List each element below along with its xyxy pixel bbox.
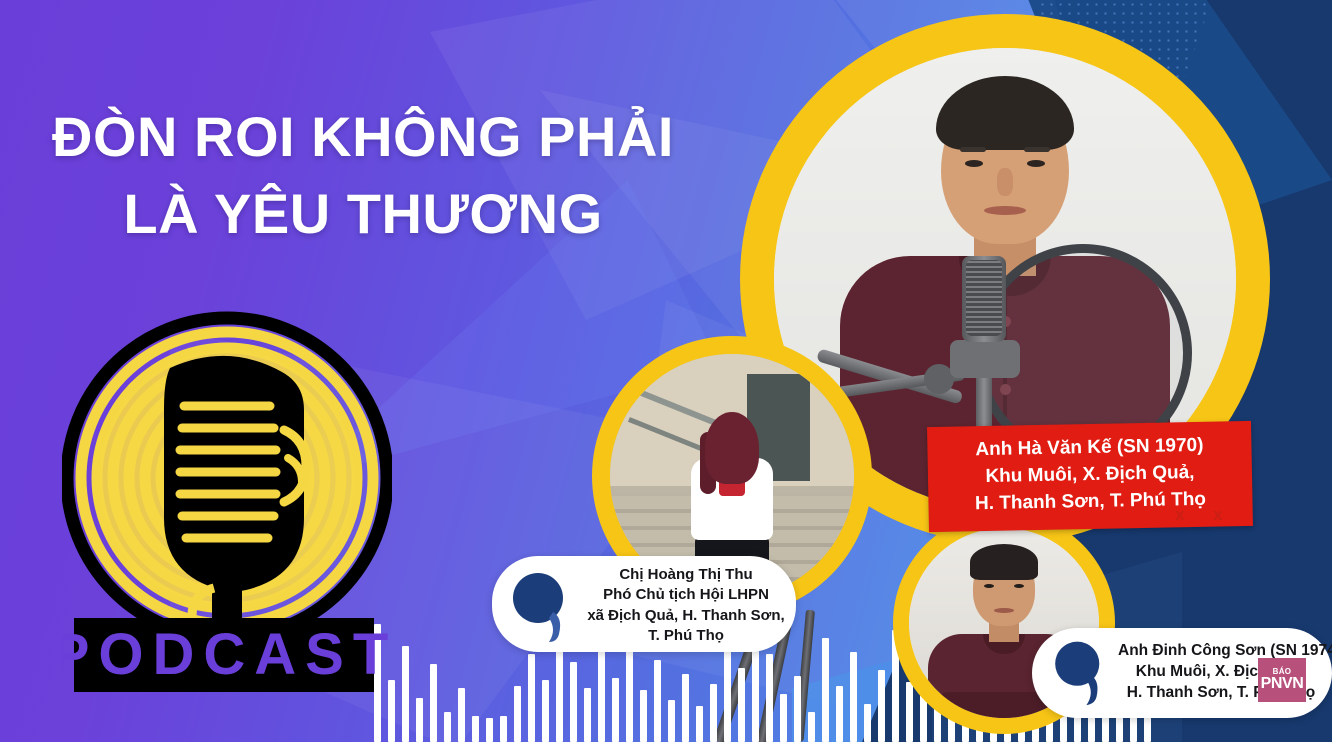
studio-microphone-icon — [966, 260, 1002, 336]
caption-line-1: Chị Hoàng Thị Thu — [584, 565, 788, 585]
caption-line-3: xã Địch Quả, H. Thanh Sơn, — [584, 606, 788, 626]
caption-text-hoang-thi-thu: Chị Hoàng Thị Thu Phó Chủ tịch Hội LHPN … — [584, 565, 788, 647]
watermark-bottom-text: PNVN — [1261, 676, 1304, 692]
podcast-logo: PODCAST — [62, 300, 392, 700]
microphone-icon: PODCAST — [62, 300, 392, 700]
x-marks: x x — [1175, 505, 1235, 525]
podcast-wordmark: PODCAST — [62, 622, 392, 687]
quote-mark-icon — [506, 568, 580, 642]
caption-hoang-thi-thu: Chị Hoàng Thị Thu Phó Chủ tịch Hội LHPN … — [492, 556, 796, 652]
caption-line-4: T. Phú Thọ — [584, 626, 788, 646]
quote-mark-icon — [1046, 638, 1114, 706]
headline-line-1: ĐÒN ROI KHÔNG PHẢI — [0, 98, 726, 175]
watermark-bao-pnvn: BÁO PNVN — [1258, 658, 1306, 702]
caption-line-2: Phó Chủ tịch Hội LHPN — [584, 585, 788, 605]
headline-line-2: LÀ YÊU THƯƠNG — [0, 175, 726, 252]
headline-title: ĐÒN ROI KHÔNG PHẢI LÀ YÊU THƯƠNG — [0, 98, 726, 253]
podcast-thumbnail-canvas: ĐÒN ROI KHÔNG PHẢI LÀ YÊU THƯƠNG — [0, 0, 1332, 742]
